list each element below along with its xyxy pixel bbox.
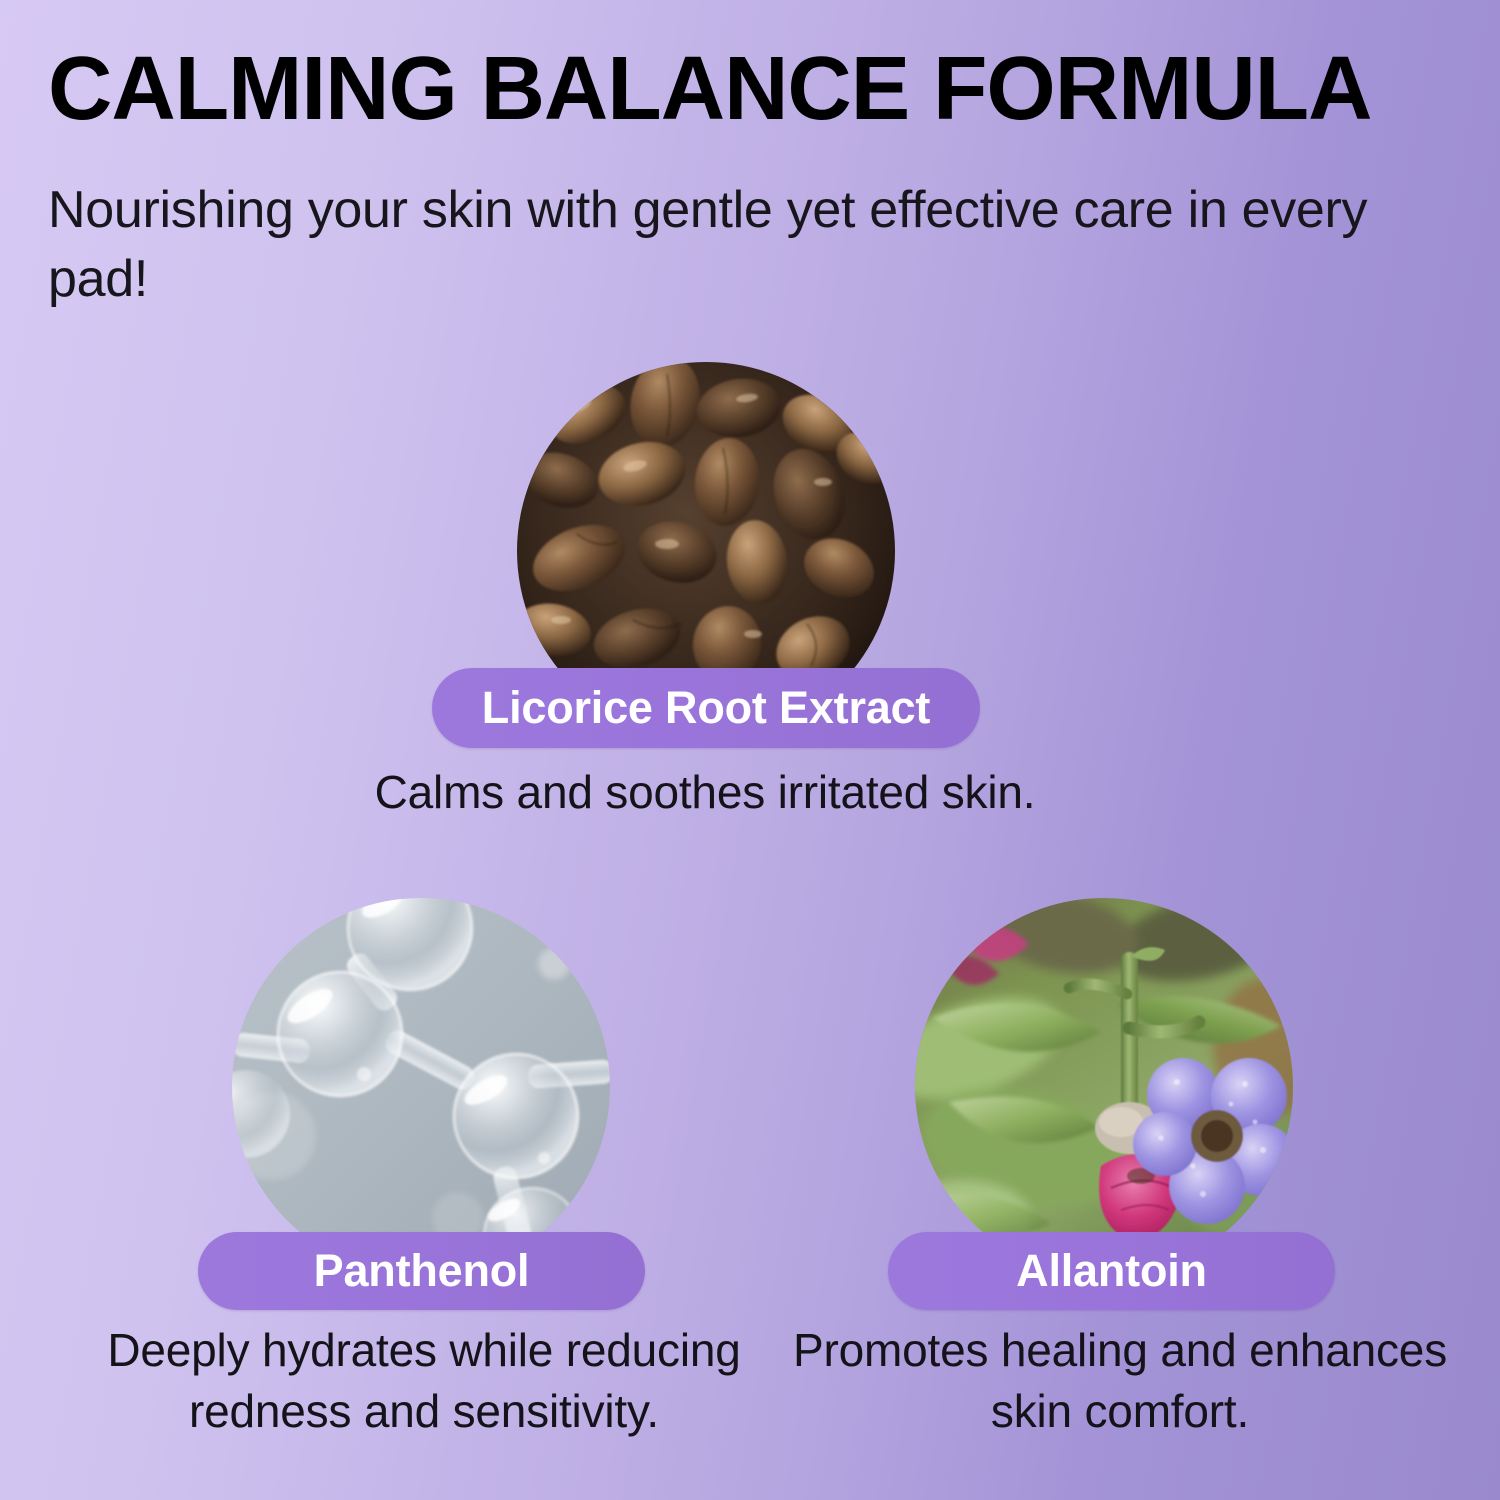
lungwort-flower-image (915, 898, 1293, 1276)
ingredient-name: Allantoin (1016, 1245, 1207, 1297)
molecule-spheres-image (232, 898, 610, 1276)
ingredient-allantoin: Allantoin Promotes healing and enhances … (750, 0, 1500, 1500)
ingredient-panthenol: Panthenol Deeply hydrates while reducing… (0, 0, 750, 1500)
ingredient-pill-panthenol[interactable]: Panthenol (198, 1232, 645, 1310)
ingredient-pill-allantoin[interactable]: Allantoin (888, 1232, 1335, 1310)
ingredient-name: Panthenol (314, 1245, 530, 1297)
ingredient-description-panthenol: Deeply hydrates while reducing redness a… (34, 1320, 814, 1442)
infographic-page: CALMING BALANCE FORMULA Nourishing your … (0, 0, 1500, 1500)
ingredient-description-allantoin: Promotes healing and enhances skin comfo… (770, 1320, 1470, 1442)
